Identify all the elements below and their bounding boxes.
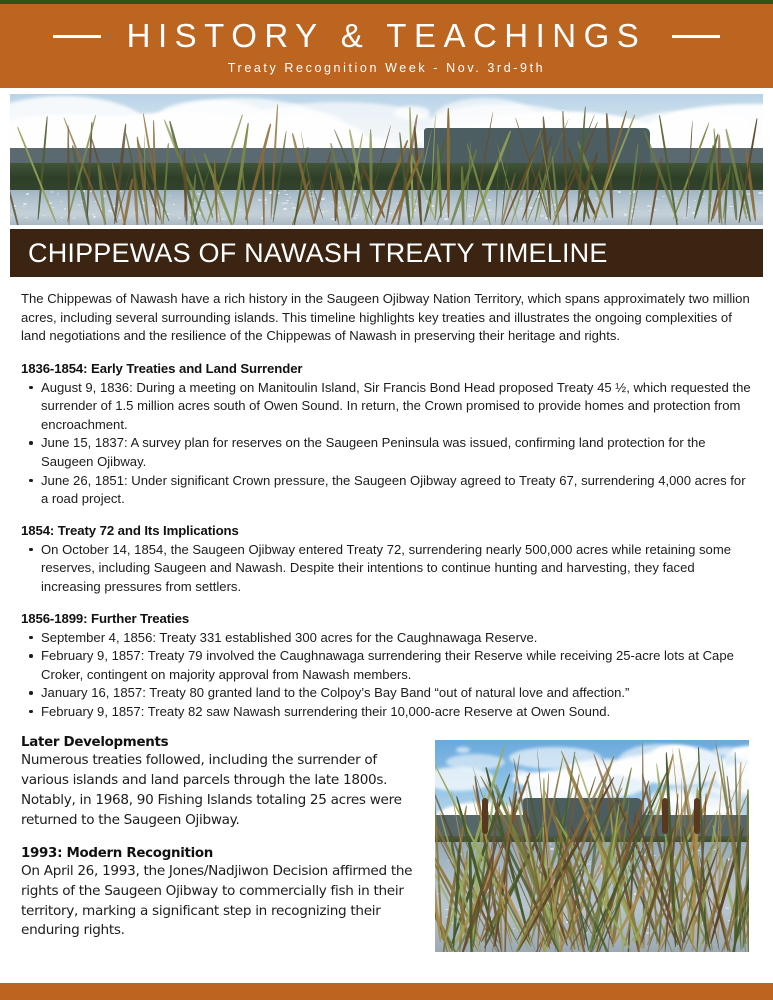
side-photo [435,740,749,952]
timeline-title-bar: CHIPPEWAS OF NAWASH TREATY TIMELINE [10,229,763,277]
horizontal-dash-icon-left [53,35,101,38]
section-heading: 1854: Treaty 72 and Its Implications [21,523,752,538]
timeline-section-3: 1856-1899: Further Treaties September 4,… [21,611,752,722]
list-item: On October 14, 1854, the Saugeen Ojibway… [21,541,752,597]
section-heading: 1856-1899: Further Treaties [21,611,752,626]
later-developments-body: Numerous treaties followed, including th… [21,751,421,830]
later-developments-heading: Later Developments [21,735,421,750]
hero-photo-canvas [10,94,763,225]
header-title-row: HISTORY & TEACHINGS [0,19,773,54]
list-item: June 15, 1837: A survey plan for reserve… [21,434,752,471]
modern-recognition-body: On April 26, 1993, the Jones/Nadjiwon De… [21,862,421,941]
hero-photo [10,94,763,225]
list-item: January 16, 1857: Treaty 80 granted land… [21,684,752,703]
horizontal-dash-icon-right [672,35,720,38]
header-subtitle: Treaty Recognition Week - Nov. 3rd-9th [228,61,545,75]
document-content: The Chippewas of Nawash have a rich hist… [0,277,773,957]
list-item: February 9, 1857: Treaty 82 saw Nawash s… [21,703,752,722]
section-bullet-list: On October 14, 1854, the Saugeen Ojibway… [21,541,752,597]
timeline-section-1: 1836-1854: Early Treaties and Land Surre… [21,361,752,509]
section-heading: 1836-1854: Early Treaties and Land Surre… [21,361,752,376]
modern-recognition-heading: 1993: Modern Recognition [21,846,421,861]
intro-paragraph: The Chippewas of Nawash have a rich hist… [21,290,752,346]
side-photo-canvas [435,740,749,952]
page-title: HISTORY & TEACHINGS [127,19,647,54]
timeline-title: CHIPPEWAS OF NAWASH TREATY TIMELINE [28,238,608,269]
list-item: June 26, 1851: Under significant Crown p… [21,472,752,509]
section-bullet-list: August 9, 1836: During a meeting on Mani… [21,379,752,509]
list-item: September 4, 1856: Treaty 331 establishe… [21,629,752,648]
timeline-section-2: 1854: Treaty 72 and Its Implications On … [21,523,752,597]
header-banner: HISTORY & TEACHINGS Treaty Recognition W… [0,4,773,88]
lower-text-column: Later Developments Numerous treaties fol… [21,735,421,957]
footer-accent-bar [0,983,773,1000]
list-item: February 9, 1857: Treaty 79 involved the… [21,647,752,684]
section-bullet-list: September 4, 1856: Treaty 331 establishe… [21,629,752,722]
list-item: August 9, 1836: During a meeting on Mani… [21,379,752,435]
lower-block: Later Developments Numerous treaties fol… [21,735,752,957]
